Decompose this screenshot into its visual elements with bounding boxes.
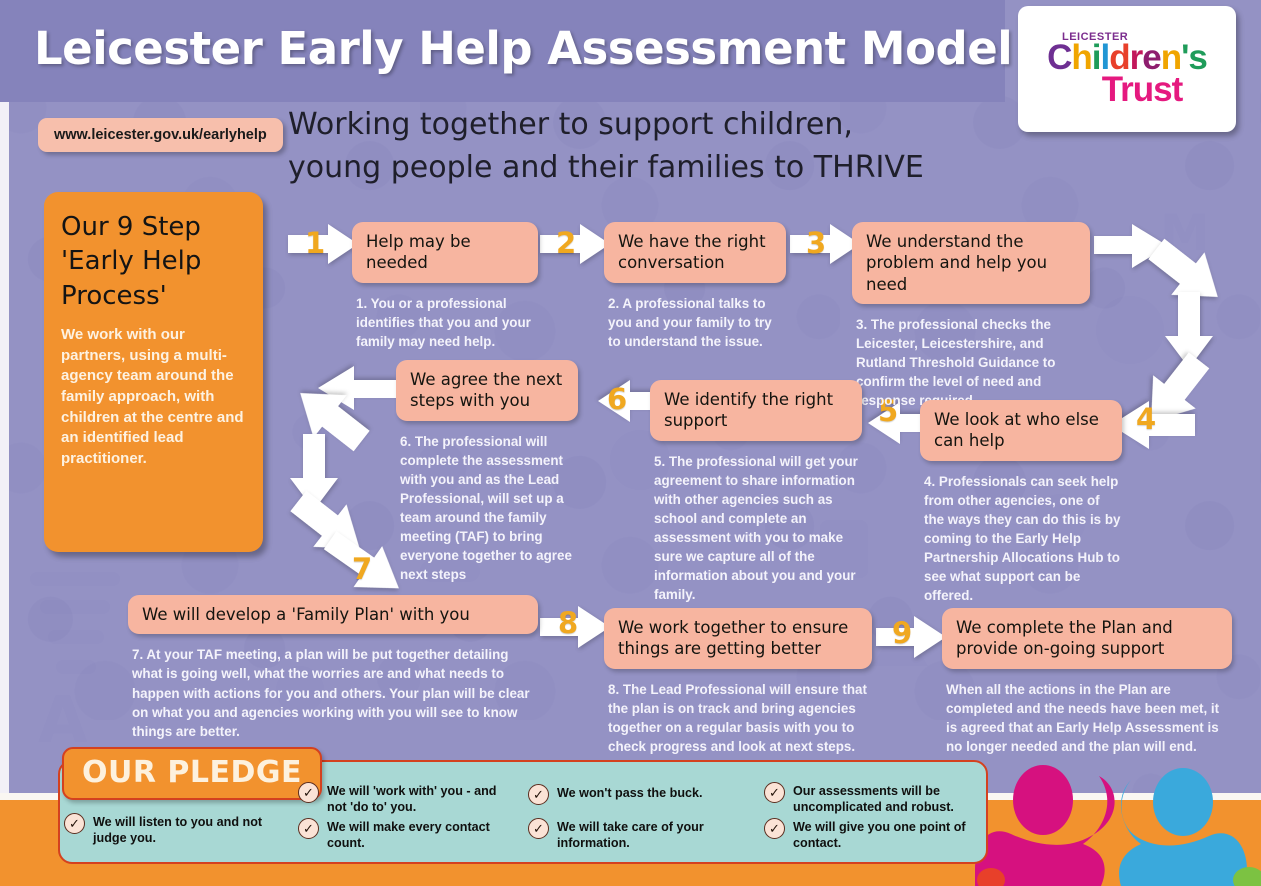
step-card-1: Help may be needed 1. You or a professio… <box>352 222 538 351</box>
pledge-item-3-text: We will make every contact count. <box>327 818 498 852</box>
pledge-item-5-text: We will take care of your information. <box>557 818 743 852</box>
intro-title-line-2: 'Early Help <box>61 244 246 278</box>
step-card-7: We will develop a 'Family Plan' with you… <box>128 595 538 741</box>
tick-icon: ✓ <box>64 813 85 834</box>
logo-childrens-text: Children's <box>1047 41 1207 74</box>
pledge-item-6-text: Our assessments will be uncomplicated an… <box>793 782 974 816</box>
children-figures-graphic <box>971 758 1261 886</box>
pledge-item-4-text: We won't pass the buck. <box>557 784 703 802</box>
strapline-line-1: Working together to support children, <box>288 104 1008 147</box>
arrow-to-step-2 <box>540 222 612 266</box>
logo-trust-text: Trust <box>1102 72 1183 107</box>
step-6-heading: We agree the next steps with you <box>396 360 578 421</box>
pledge-item-3: ✓ We will make every contact count. <box>298 818 498 852</box>
tick-icon: ✓ <box>528 784 549 805</box>
arrow-to-step-1 <box>288 222 360 266</box>
pledge-badge: OUR PLEDGE <box>62 747 322 800</box>
step-5-heading: We identify the right support <box>650 380 862 441</box>
nine-step-process-body: We work with our partners, using a multi… <box>61 325 246 470</box>
step-card-3: We understand the problem and help you n… <box>852 222 1090 410</box>
step-8-description: 8. The Lead Professional will ensure tha… <box>604 680 872 756</box>
step-card-8: We work together to ensure things are ge… <box>604 608 872 756</box>
step-7-heading: We will develop a 'Family Plan' with you <box>128 595 538 634</box>
step-card-5: We identify the right support 5. The pro… <box>650 380 862 604</box>
step-1-heading: Help may be needed <box>352 222 538 283</box>
arrow-to-step-8 <box>540 604 612 650</box>
intro-title-line-3: Process' <box>61 279 246 313</box>
step-1-description: 1. You or a professional identifies that… <box>352 294 538 351</box>
pledge-item-1: ✓ We will listen to you and not judge yo… <box>64 813 289 847</box>
step-card-6: We agree the next steps with you 6. The … <box>396 360 578 584</box>
tick-icon: ✓ <box>298 818 319 839</box>
nine-step-process-box: Our 9 Step 'Early Help Process' We work … <box>44 192 263 552</box>
pledge-item-6: ✓ Our assessments will be uncomplicated … <box>764 782 974 816</box>
pledge-item-2: ✓ We will 'work with' you - and not 'do … <box>298 782 498 816</box>
pledge-item-2-text: We will 'work with' you - and not 'do to… <box>327 782 498 816</box>
website-url-badge[interactable]: www.leicester.gov.uk/earlyhelp <box>38 118 283 152</box>
step-9-heading: We complete the Plan and provide on-goin… <box>942 608 1232 669</box>
step-card-2: We have the right conversation 2. A prof… <box>604 222 786 351</box>
step-4-heading: We look at who else can help <box>920 400 1122 461</box>
pledge-item-7-text: We will give you one point of contact. <box>793 818 974 852</box>
arrow-to-step-9 <box>876 614 948 660</box>
pledge-item-7: ✓ We will give you one point of contact. <box>764 818 974 852</box>
tick-icon: ✓ <box>764 818 785 839</box>
step-3-heading: We understand the problem and help you n… <box>852 222 1090 304</box>
step-4-description: 4. Professionals can seek help from othe… <box>920 472 1122 605</box>
poster-canvas: A A M Leicester Early Help Assessment Mo… <box>0 0 1261 886</box>
step-6-description: 6. The professional will complete the as… <box>396 432 578 584</box>
tick-icon: ✓ <box>764 782 785 803</box>
step-card-4: We look at who else can help 4. Professi… <box>920 400 1122 605</box>
left-page-edge <box>0 0 9 886</box>
step-2-description: 2. A professional talks to you and your … <box>604 294 786 351</box>
step-5-description: 5. The professional will get your agreem… <box>650 452 862 604</box>
intro-title-line-1: Our 9 Step <box>61 210 246 244</box>
step-9-description: When all the actions in the Plan are com… <box>942 680 1232 756</box>
step-8-heading: We work together to ensure things are ge… <box>604 608 872 669</box>
step-card-9: We complete the Plan and provide on-goin… <box>942 608 1232 756</box>
step-3-description: 3. The professional checks the Leicester… <box>852 315 1090 410</box>
pledge-item-4: ✓ We won't pass the buck. <box>528 784 743 805</box>
strapline: Working together to support children, yo… <box>288 104 1008 189</box>
strapline-line-2: young people and their families to THRIV… <box>288 147 1008 190</box>
pledge-item-5: ✓ We will take care of your information. <box>528 818 743 852</box>
page-title: Leicester Early Help Assessment Model <box>34 22 1012 75</box>
leicester-childrens-trust-logo: LEICESTER Children's Trust <box>1018 6 1236 132</box>
step-7-description: 7. At your TAF meeting, a plan will be p… <box>128 645 538 740</box>
pledge-item-1-text: We will listen to you and not judge you. <box>93 813 289 847</box>
step-2-heading: We have the right conversation <box>604 222 786 283</box>
tick-icon: ✓ <box>298 782 319 803</box>
tick-icon: ✓ <box>528 818 549 839</box>
nine-step-process-title: Our 9 Step 'Early Help Process' <box>61 210 246 313</box>
